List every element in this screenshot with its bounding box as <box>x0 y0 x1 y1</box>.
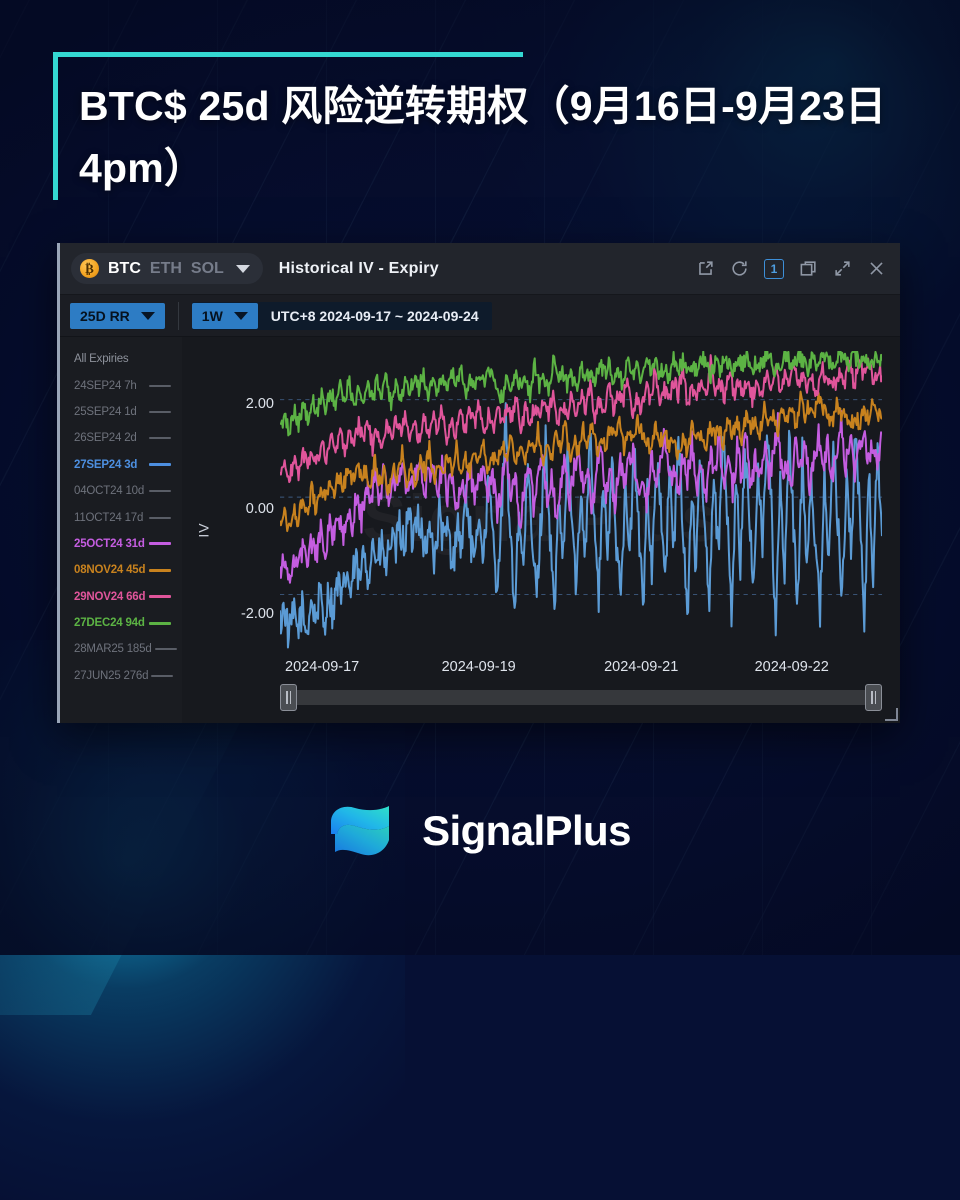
interval-dropdown-label: 1W <box>202 308 223 324</box>
window-tools: 1 <box>696 259 886 279</box>
legend-color-swatch <box>151 675 173 677</box>
title-block: BTC$ 25d 风险逆转期权（9月16日-9月23日 4pm） <box>53 52 898 199</box>
toolbar-divider <box>178 302 179 330</box>
expand-icon[interactable] <box>833 259 852 278</box>
brand-footer: SignalPlus <box>0 800 960 862</box>
x-axis-ticks: 2024-09-172024-09-192024-09-212024-09-22 <box>280 659 882 679</box>
signalplus-logo-icon <box>329 800 403 862</box>
legend-header[interactable]: All Expiries <box>60 346 182 372</box>
legend-item-label: 08NOV24 45d <box>74 564 145 576</box>
legend-item-label: 04OCT24 10d <box>74 485 144 497</box>
chevron-down-icon <box>234 312 248 320</box>
legend-item[interactable]: 25OCT24 31d <box>60 531 182 557</box>
metric-dropdown[interactable]: 25D RR <box>70 303 165 329</box>
bitcoin-icon: ₿ <box>80 259 99 278</box>
legend-item-label: 29NOV24 66d <box>74 591 145 603</box>
chart-area: SignalPlus IV 2.000.00-2.00 2024-09-1720… <box>182 337 900 723</box>
window-toolbar: 25D RR 1W UTC+8 2024-09-17 ~ 2024-09-24 <box>60 295 900 337</box>
legend-color-swatch <box>149 542 171 545</box>
external-link-icon[interactable] <box>696 259 715 278</box>
asset-selector[interactable]: ₿ BTC ETH SOL <box>71 253 263 284</box>
panel-title: Historical IV - Expiry <box>279 260 439 278</box>
x-axis-tick-label: 2024-09-17 <box>285 659 359 675</box>
legend-color-swatch <box>149 463 171 466</box>
legend-color-swatch <box>149 411 171 413</box>
legend-item[interactable]: 26SEP24 2d <box>60 425 182 451</box>
legend-color-swatch <box>149 569 171 572</box>
legend-header-label: All Expiries <box>74 353 128 365</box>
legend-item-label: 26SEP24 2d <box>74 432 137 444</box>
chevron-down-icon[interactable] <box>236 265 250 273</box>
legend-color-swatch <box>149 490 171 492</box>
interval-dropdown[interactable]: 1W <box>192 303 258 329</box>
slider-handle-left[interactable] <box>280 684 297 711</box>
legend-item[interactable]: 27SEP24 3d <box>60 452 182 478</box>
asset-tab-btc[interactable]: BTC <box>108 260 141 278</box>
legend-color-swatch <box>149 437 171 439</box>
chart-window: ₿ BTC ETH SOL Historical IV - Expiry 1 <box>57 243 900 723</box>
chevron-down-icon <box>141 312 155 320</box>
legend-item[interactable]: 04OCT24 10d <box>60 478 182 504</box>
legend-item-label: 28MAR25 185d <box>74 643 152 655</box>
y-axis-tick-label: 0.00 <box>246 501 274 517</box>
legend-item-label: 24SEP24 7h <box>74 380 137 392</box>
x-axis-tick-label: 2024-09-21 <box>604 659 678 675</box>
x-axis-tick-label: 2024-09-22 <box>755 659 829 675</box>
legend-item-label: 25OCT24 31d <box>74 538 145 550</box>
duplicate-icon[interactable] <box>799 259 818 278</box>
legend-item[interactable]: 27JUN25 276d <box>60 663 182 689</box>
legend-item-label: 11OCT24 17d <box>74 512 143 524</box>
legend-item[interactable]: 27DEC24 94d <box>60 610 182 636</box>
legend-item[interactable]: 24SEP24 7h <box>60 372 182 398</box>
slider-handle-right[interactable] <box>865 684 882 711</box>
chart-range-slider[interactable] <box>280 684 882 711</box>
close-icon[interactable] <box>867 259 886 278</box>
window-header: ₿ BTC ETH SOL Historical IV - Expiry 1 <box>60 243 900 295</box>
expiry-legend: All Expiries 24SEP24 7h25SEP24 1d26SEP24… <box>60 337 182 723</box>
legend-color-swatch <box>155 648 177 650</box>
y-axis-ticks: 2.000.00-2.00 <box>212 337 274 723</box>
date-range-label: UTC+8 2024-09-17 ~ 2024-09-24 <box>258 308 492 324</box>
legend-color-swatch <box>149 385 171 387</box>
legend-item-label: 27JUN25 276d <box>74 670 148 682</box>
asset-tab-eth[interactable]: ETH <box>150 260 182 278</box>
metric-dropdown-label: 25D RR <box>80 308 130 324</box>
legend-item[interactable]: 25SEP24 1d <box>60 399 182 425</box>
x-axis-tick-label: 2024-09-19 <box>442 659 516 675</box>
resize-handle[interactable] <box>885 708 898 721</box>
chart-series-line <box>280 355 882 482</box>
y-axis-tick-label: -2.00 <box>241 606 274 622</box>
legend-color-swatch <box>149 622 171 625</box>
legend-item-label: 27DEC24 94d <box>74 617 145 629</box>
count-badge[interactable]: 1 <box>764 259 784 279</box>
legend-item[interactable]: 29NOV24 66d <box>60 584 182 610</box>
plot-canvas <box>280 351 882 653</box>
window-body: All Expiries 24SEP24 7h25SEP24 1d26SEP24… <box>60 337 900 723</box>
page-title: BTC$ 25d 风险逆转期权（9月16日-9月23日 4pm） <box>79 52 898 199</box>
slider-track[interactable] <box>294 690 868 705</box>
legend-item-label: 25SEP24 1d <box>74 406 137 418</box>
legend-item[interactable]: 11OCT24 17d <box>60 504 182 530</box>
legend-color-swatch <box>149 517 171 519</box>
y-axis-tick-label: 2.00 <box>246 396 274 412</box>
asset-tab-sol[interactable]: SOL <box>191 260 224 278</box>
y-axis-label: IV <box>196 522 212 537</box>
date-range-control[interactable]: 1W UTC+8 2024-09-17 ~ 2024-09-24 <box>192 302 492 330</box>
brand-name: SignalPlus <box>422 807 631 855</box>
legend-color-swatch <box>149 595 171 598</box>
legend-item-label: 27SEP24 3d <box>74 459 137 471</box>
refresh-icon[interactable] <box>730 259 749 278</box>
legend-item[interactable]: 08NOV24 45d <box>60 557 182 583</box>
legend-item[interactable]: 28MAR25 185d <box>60 636 182 662</box>
